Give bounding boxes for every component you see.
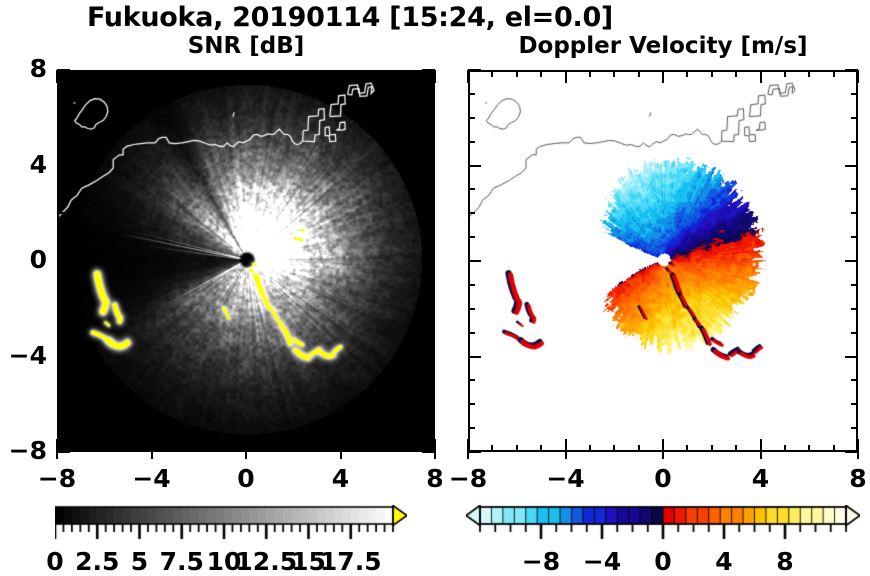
snr-xtick-bottom bbox=[340, 439, 343, 452]
snr-yticklabel: 4 bbox=[0, 150, 47, 179]
doppler-ytick-right bbox=[851, 379, 858, 382]
snr-xtick-major-out bbox=[151, 452, 154, 459]
snr-xtick-major-out bbox=[245, 452, 248, 459]
snr-xtick-top bbox=[363, 70, 366, 77]
doppler-ytick-right bbox=[851, 308, 858, 311]
doppler-xtick-top bbox=[613, 70, 616, 77]
doppler-xtick-top bbox=[662, 70, 665, 83]
doppler-ytick-right bbox=[851, 332, 858, 335]
doppler-xtick-top bbox=[833, 70, 836, 77]
doppler-ytick-right bbox=[845, 165, 858, 168]
snr-xtick-bottom bbox=[103, 445, 106, 452]
doppler-ytick-left bbox=[468, 356, 481, 359]
doppler-ytick-left bbox=[468, 141, 475, 144]
snr-ytick-right bbox=[428, 117, 435, 120]
panel-label-doppler: Doppler Velocity [m/s] bbox=[468, 33, 858, 59]
snr-ytick-right bbox=[428, 93, 435, 96]
doppler-ytick-left bbox=[468, 403, 475, 406]
doppler-xticklabel: 8 bbox=[818, 464, 870, 493]
doppler-ytick-left bbox=[468, 165, 481, 168]
doppler-xtick-bottom bbox=[735, 445, 738, 452]
snr-xtick-top bbox=[127, 70, 130, 77]
snr-ytick-left bbox=[57, 284, 64, 287]
doppler-xtick-bottom bbox=[540, 445, 543, 452]
snr-xtick-top bbox=[103, 70, 106, 77]
doppler-xtick-top bbox=[735, 70, 738, 77]
snr-ytick-left bbox=[57, 451, 70, 454]
snr-xtick-top bbox=[410, 70, 413, 77]
snr-xtick-major-out bbox=[434, 452, 437, 459]
doppler-xtick-bottom bbox=[491, 445, 494, 452]
snr-ytick-left bbox=[57, 188, 64, 191]
doppler-xticklabel: −8 bbox=[428, 464, 508, 493]
doppler-ytick-left bbox=[468, 332, 475, 335]
doppler-xticklabel: 0 bbox=[623, 464, 703, 493]
doppler-xtick-bottom bbox=[784, 445, 787, 452]
doppler-xtick-bottom bbox=[662, 439, 665, 452]
snr-ytick-right bbox=[428, 308, 435, 311]
doppler-colorbar-ticklabel: 8 bbox=[740, 547, 830, 576]
doppler-xtick-bottom bbox=[638, 445, 641, 452]
snr-ytick-right bbox=[422, 356, 435, 359]
doppler-xticklabel: −4 bbox=[526, 464, 606, 493]
snr-xtick-top bbox=[245, 70, 248, 83]
snr-xtick-bottom bbox=[127, 445, 130, 452]
snr-xtick-bottom bbox=[316, 445, 319, 452]
figure-title: Fukuoka, 20190114 [15:24, el=0.0] bbox=[0, 2, 700, 33]
snr-xtick-top bbox=[198, 70, 201, 77]
doppler-xtick-bottom bbox=[565, 439, 568, 452]
snr-ytick-left bbox=[57, 427, 64, 430]
snr-yticklabel: 8 bbox=[0, 54, 47, 83]
doppler-xtick-bottom bbox=[711, 445, 714, 452]
snr-xtick-bottom bbox=[269, 445, 272, 452]
doppler-ytick-left bbox=[468, 69, 481, 72]
snr-ytick-right bbox=[422, 69, 435, 72]
doppler-xtick-top bbox=[467, 70, 470, 83]
snr-xtick-bottom bbox=[245, 439, 248, 452]
snr-xtick-bottom bbox=[174, 445, 177, 452]
doppler-plot-panel bbox=[468, 70, 858, 452]
snr-plot-panel bbox=[57, 70, 435, 452]
snr-xtick-top bbox=[434, 70, 437, 83]
doppler-xtick-major-out bbox=[662, 452, 665, 459]
snr-ytick-right bbox=[428, 403, 435, 406]
radar-figure: Fukuoka, 20190114 [15:24, el=0.0] SNR [d… bbox=[0, 0, 870, 570]
doppler-ytick-left bbox=[468, 379, 475, 382]
snr-ytick-left bbox=[57, 117, 64, 120]
snr-ytick-left bbox=[57, 379, 64, 382]
doppler-ytick-left bbox=[468, 117, 475, 120]
snr-xtick-top bbox=[80, 70, 83, 77]
doppler-ytick-left bbox=[468, 427, 475, 430]
doppler-ytick-right bbox=[851, 188, 858, 191]
doppler-xtick-bottom bbox=[833, 445, 836, 452]
snr-ytick-right bbox=[428, 236, 435, 239]
doppler-ytick-right bbox=[851, 93, 858, 96]
snr-ytick-left bbox=[57, 332, 64, 335]
doppler-xtick-major-out bbox=[467, 452, 470, 459]
doppler-ytick-right bbox=[845, 260, 858, 263]
snr-xtick-top bbox=[340, 70, 343, 83]
snr-xtick-bottom bbox=[198, 445, 201, 452]
snr-xtick-bottom bbox=[80, 445, 83, 452]
doppler-xtick-top bbox=[711, 70, 714, 77]
snr-ytick-right bbox=[428, 212, 435, 215]
snr-ytick-right bbox=[422, 165, 435, 168]
doppler-xtick-bottom bbox=[808, 445, 811, 452]
snr-ytick-left bbox=[57, 212, 64, 215]
snr-xtick-top bbox=[387, 70, 390, 77]
snr-ytick-right bbox=[428, 141, 435, 144]
snr-xtick-top bbox=[56, 70, 59, 83]
snr-ytick-left bbox=[57, 236, 64, 239]
snr-ytick-left bbox=[57, 93, 64, 96]
snr-colorbar-ticklabel: 17.5 bbox=[306, 547, 396, 576]
snr-xtick-bottom bbox=[434, 439, 437, 452]
doppler-xtick-top bbox=[808, 70, 811, 77]
doppler-xtick-top bbox=[784, 70, 787, 77]
doppler-xtick-top bbox=[589, 70, 592, 77]
doppler-xtick-top bbox=[540, 70, 543, 77]
snr-xtick-top bbox=[151, 70, 154, 83]
snr-xtick-top bbox=[316, 70, 319, 77]
doppler-ytick-right bbox=[851, 212, 858, 215]
snr-ytick-left bbox=[57, 260, 70, 263]
snr-xtick-major-out bbox=[340, 452, 343, 459]
snr-ytick-left bbox=[57, 69, 70, 72]
doppler-ytick-left bbox=[468, 212, 475, 215]
doppler-xtick-bottom bbox=[686, 445, 689, 452]
doppler-ytick-right bbox=[851, 141, 858, 144]
snr-ytick-right bbox=[428, 379, 435, 382]
snr-xticklabel: −8 bbox=[17, 464, 97, 493]
snr-ytick-left bbox=[57, 165, 70, 168]
snr-ytick-left bbox=[57, 308, 64, 311]
snr-xtick-major-out bbox=[56, 452, 59, 459]
snr-xtick-bottom bbox=[410, 445, 413, 452]
doppler-xtick-top bbox=[686, 70, 689, 77]
doppler-xtick-bottom bbox=[760, 439, 763, 452]
snr-ytick-left bbox=[57, 403, 64, 406]
doppler-ytick-left bbox=[468, 284, 475, 287]
snr-xtick-top bbox=[174, 70, 177, 77]
doppler-xtick-major-out bbox=[857, 452, 860, 459]
snr-ytick-right bbox=[428, 332, 435, 335]
doppler-ytick-left bbox=[468, 308, 475, 311]
snr-xtick-bottom bbox=[292, 445, 295, 452]
snr-xtick-top bbox=[221, 70, 224, 77]
snr-xtick-bottom bbox=[387, 445, 390, 452]
snr-colorbar bbox=[55, 505, 407, 547]
snr-ytick-left bbox=[57, 141, 64, 144]
snr-ytick-right bbox=[422, 260, 435, 263]
doppler-ytick-right bbox=[845, 69, 858, 72]
doppler-ytick-right bbox=[851, 236, 858, 239]
doppler-xtick-bottom bbox=[589, 445, 592, 452]
snr-xtick-bottom bbox=[363, 445, 366, 452]
snr-yticklabel: −4 bbox=[0, 341, 47, 370]
doppler-xtick-top bbox=[516, 70, 519, 77]
doppler-colorbar bbox=[466, 505, 860, 547]
doppler-ytick-right bbox=[851, 284, 858, 287]
snr-ytick-left bbox=[57, 356, 70, 359]
doppler-xtick-major-out bbox=[760, 452, 763, 459]
doppler-ytick-left bbox=[468, 93, 475, 96]
doppler-xtick-bottom bbox=[516, 445, 519, 452]
snr-ytick-right bbox=[428, 427, 435, 430]
doppler-xtick-bottom bbox=[857, 439, 860, 452]
doppler-xtick-top bbox=[638, 70, 641, 77]
snr-ytick-right bbox=[428, 188, 435, 191]
doppler-xtick-top bbox=[857, 70, 860, 83]
snr-yticklabel: −8 bbox=[0, 436, 47, 465]
doppler-xtick-major-out bbox=[565, 452, 568, 459]
snr-xtick-top bbox=[269, 70, 272, 77]
doppler-ytick-right bbox=[851, 427, 858, 430]
doppler-ytick-right bbox=[851, 117, 858, 120]
doppler-ytick-left bbox=[468, 188, 475, 191]
snr-xticklabel: 4 bbox=[301, 464, 381, 493]
snr-xticklabel: 0 bbox=[206, 464, 286, 493]
doppler-ytick-left bbox=[468, 236, 475, 239]
doppler-ytick-left bbox=[468, 451, 481, 454]
doppler-xtick-top bbox=[565, 70, 568, 83]
snr-ytick-right bbox=[428, 284, 435, 287]
snr-xticklabel: −4 bbox=[112, 464, 192, 493]
doppler-xtick-top bbox=[760, 70, 763, 83]
doppler-ytick-right bbox=[845, 356, 858, 359]
doppler-xtick-top bbox=[491, 70, 494, 77]
doppler-ytick-left bbox=[468, 260, 481, 263]
snr-xtick-bottom bbox=[151, 439, 154, 452]
snr-xtick-bottom bbox=[221, 445, 224, 452]
panel-label-snr: SNR [dB] bbox=[57, 33, 435, 59]
doppler-ytick-right bbox=[851, 403, 858, 406]
doppler-xtick-bottom bbox=[613, 445, 616, 452]
snr-yticklabel: 0 bbox=[0, 245, 47, 274]
snr-xtick-top bbox=[292, 70, 295, 77]
doppler-xticklabel: 4 bbox=[721, 464, 801, 493]
